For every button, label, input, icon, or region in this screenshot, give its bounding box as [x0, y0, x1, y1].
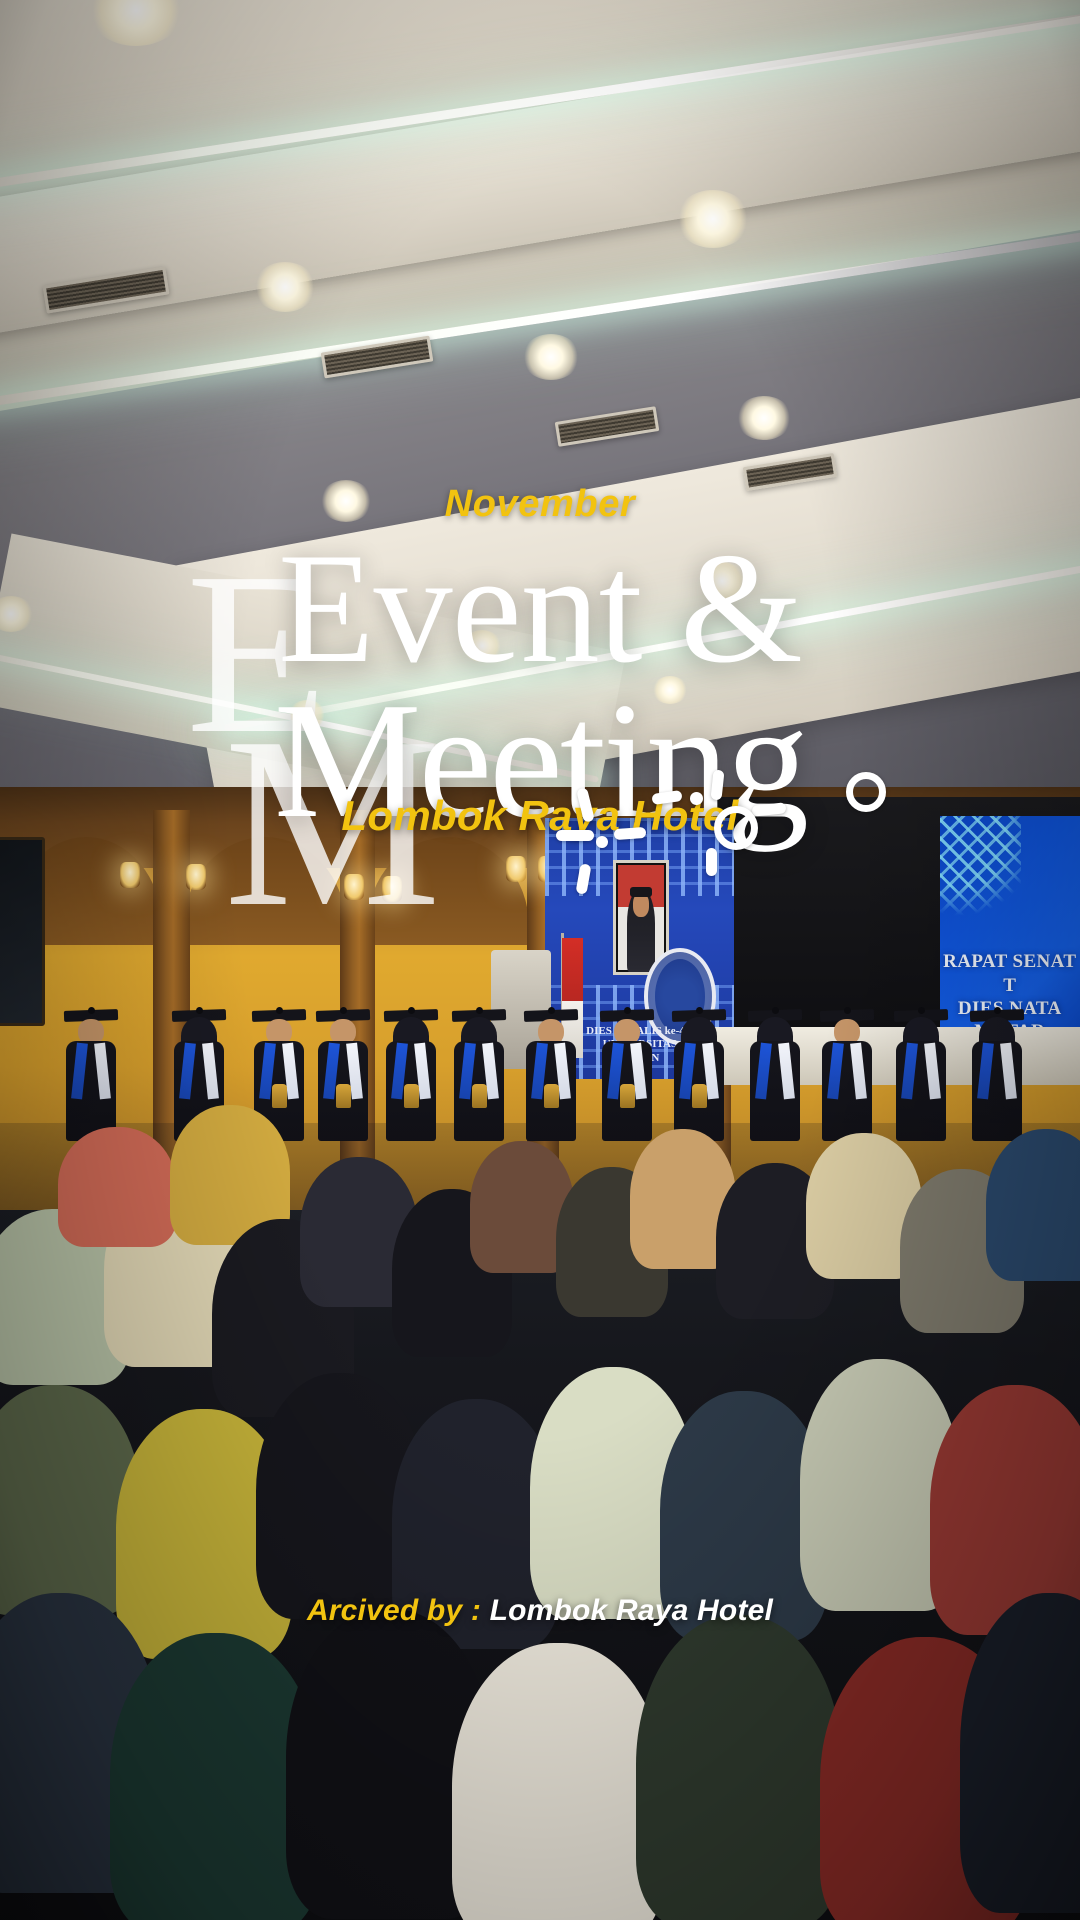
poster-canvas: RAPAT SENAT T DIES NATA MATAR DIES NATAL…: [0, 0, 1080, 1920]
circle-outline-icon: [846, 772, 886, 812]
venue-subtitle: Lombok Raya Hotel: [0, 792, 1080, 840]
title-line-1: Event &: [0, 536, 1080, 683]
sparkle-ray: [706, 848, 717, 876]
sparkle-ray: [575, 863, 591, 894]
sparkle-ray: [752, 802, 787, 816]
credit-hotel-name: Lombok Raya Hotel: [490, 1594, 773, 1627]
sparkle-ray: [710, 770, 724, 801]
dot-icon: [596, 836, 608, 848]
text-overlay-layer: November E M Event & Meeting Lombok Raya…: [0, 0, 1080, 1920]
circle-outline-icon: [714, 806, 758, 850]
sparkle-ray: [556, 830, 594, 841]
sparkle-ray: [614, 827, 647, 840]
dot-icon: [690, 792, 703, 805]
archive-credit: Arcived by : Lombok Raya Hotel: [0, 1594, 1080, 1628]
month-label: November: [0, 483, 1080, 526]
sparkle-ray: [576, 787, 595, 823]
credit-prefix: Arcived by :: [307, 1594, 490, 1627]
